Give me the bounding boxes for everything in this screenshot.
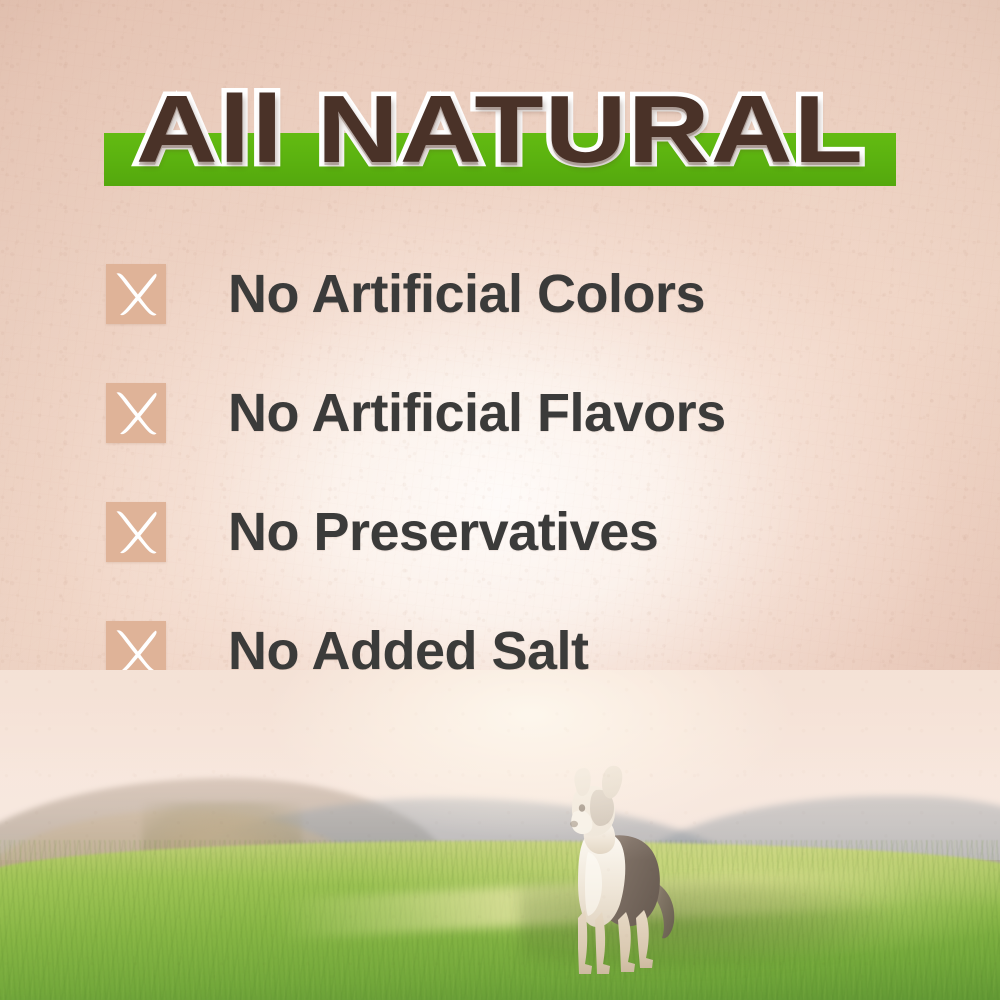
feature-list: No Artificial Colors No Artificial Flavo… bbox=[106, 258, 936, 734]
feature-label: No Preservatives bbox=[228, 496, 658, 568]
headline-block: All NATURAL bbox=[0, 74, 1000, 194]
dog-figure bbox=[540, 762, 700, 982]
x-mark-icon bbox=[106, 502, 166, 562]
x-mark-icon bbox=[106, 264, 166, 324]
x-mark-icon bbox=[106, 383, 166, 443]
feature-label: No Artificial Flavors bbox=[228, 377, 726, 449]
feature-label: No Artificial Colors bbox=[228, 258, 705, 330]
feature-item-no-artificial-colors: No Artificial Colors bbox=[106, 258, 936, 377]
landscape-photo bbox=[0, 670, 1000, 1000]
feature-item-no-artificial-flavors: No Artificial Flavors bbox=[106, 377, 936, 496]
product-feature-graphic: All NATURAL No Artificial Colors No Arti… bbox=[0, 0, 1000, 1000]
feature-item-no-preservatives: No Preservatives bbox=[106, 496, 936, 615]
headline-text: All NATURAL bbox=[0, 74, 1000, 186]
